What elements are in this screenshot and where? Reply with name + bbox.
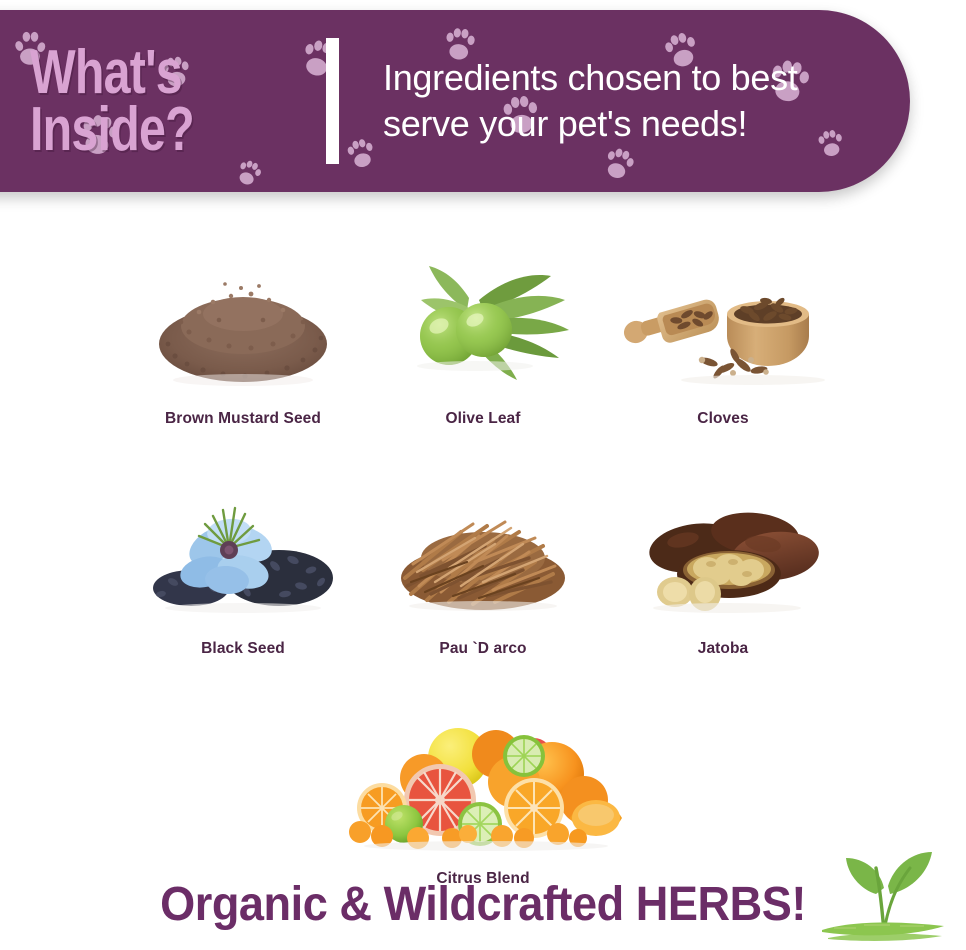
ingredient-label: Olive Leaf <box>445 410 520 428</box>
ingredient-card-jatoba: Jatoba <box>612 482 834 658</box>
ingredient-card-olive-leaf: Olive Leaf <box>372 252 594 428</box>
banner-divider <box>326 38 339 164</box>
pau-darco-photo <box>372 482 594 622</box>
banner-title: What's Inside? <box>30 44 256 158</box>
cloves-photo <box>612 252 834 392</box>
ingredient-label: Cloves <box>697 410 748 428</box>
black-seed-photo <box>132 482 354 622</box>
ingredient-card-cloves: Cloves <box>612 252 834 428</box>
ingredient-grid: Brown Mustard Seed <box>0 238 966 888</box>
jatoba-photo <box>612 482 834 622</box>
footer: Organic & Wildcrafted HERBS! <box>0 846 966 946</box>
ingredient-label: Brown Mustard Seed <box>165 410 321 428</box>
ingredient-card-brown-mustard-seed: Brown Mustard Seed <box>132 252 354 428</box>
footer-headline: Organic & Wildcrafted HERBS! <box>29 877 937 932</box>
ingredient-card-pau-darco: Pau `D arco <box>372 482 594 658</box>
brown-mustard-seed-photo <box>132 252 354 392</box>
ingredient-row: Brown Mustard Seed <box>0 238 966 428</box>
ingredient-label: Jatoba <box>698 640 749 658</box>
header-banner: What's Inside? Ingredients chosen to bes… <box>0 10 910 192</box>
citrus-blend-photo <box>372 712 594 852</box>
ingredient-row: Black Seed <box>0 468 966 658</box>
ingredient-label: Black Seed <box>201 640 285 658</box>
ingredient-label: Pau `D arco <box>439 640 526 658</box>
olive-leaf-photo <box>372 252 594 392</box>
banner-subtitle: Ingredients chosen to best serve your pe… <box>383 55 797 147</box>
ingredient-card-black-seed: Black Seed <box>132 482 354 658</box>
